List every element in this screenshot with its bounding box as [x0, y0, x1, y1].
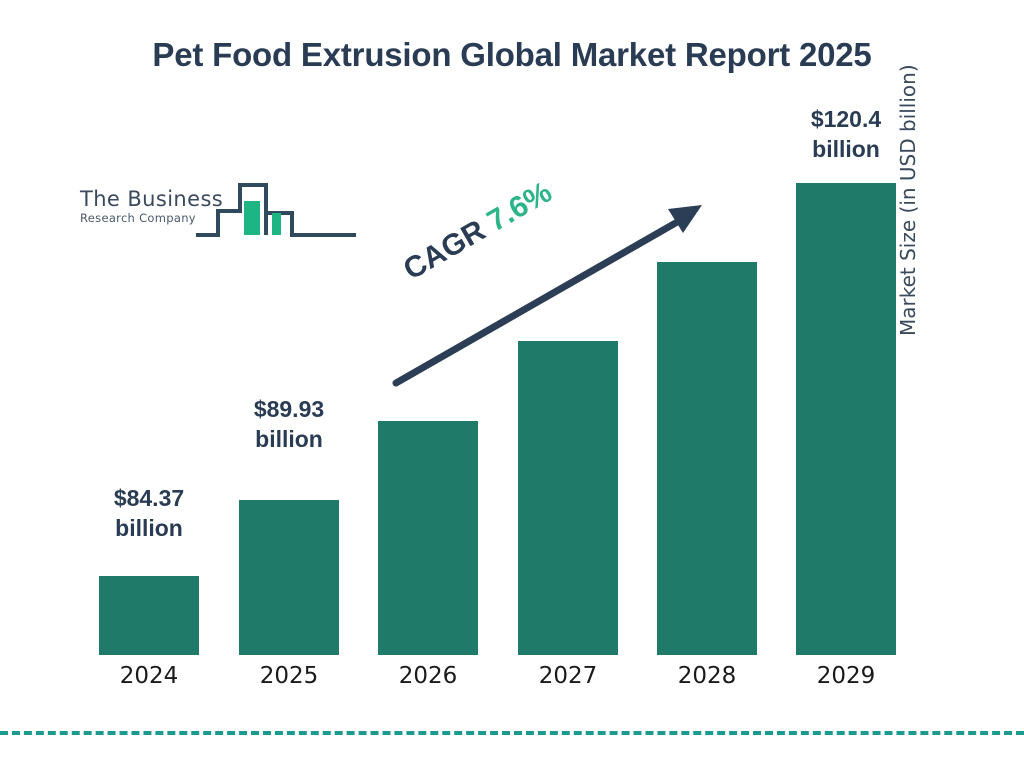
chart-canvas: Pet Food Extrusion Global Market Report …	[0, 0, 1024, 768]
growth-trend-arrow	[0, 0, 1024, 768]
footer-divider	[0, 731, 1024, 735]
y-axis-title: Market Size (in USD billion)	[896, 6, 920, 336]
